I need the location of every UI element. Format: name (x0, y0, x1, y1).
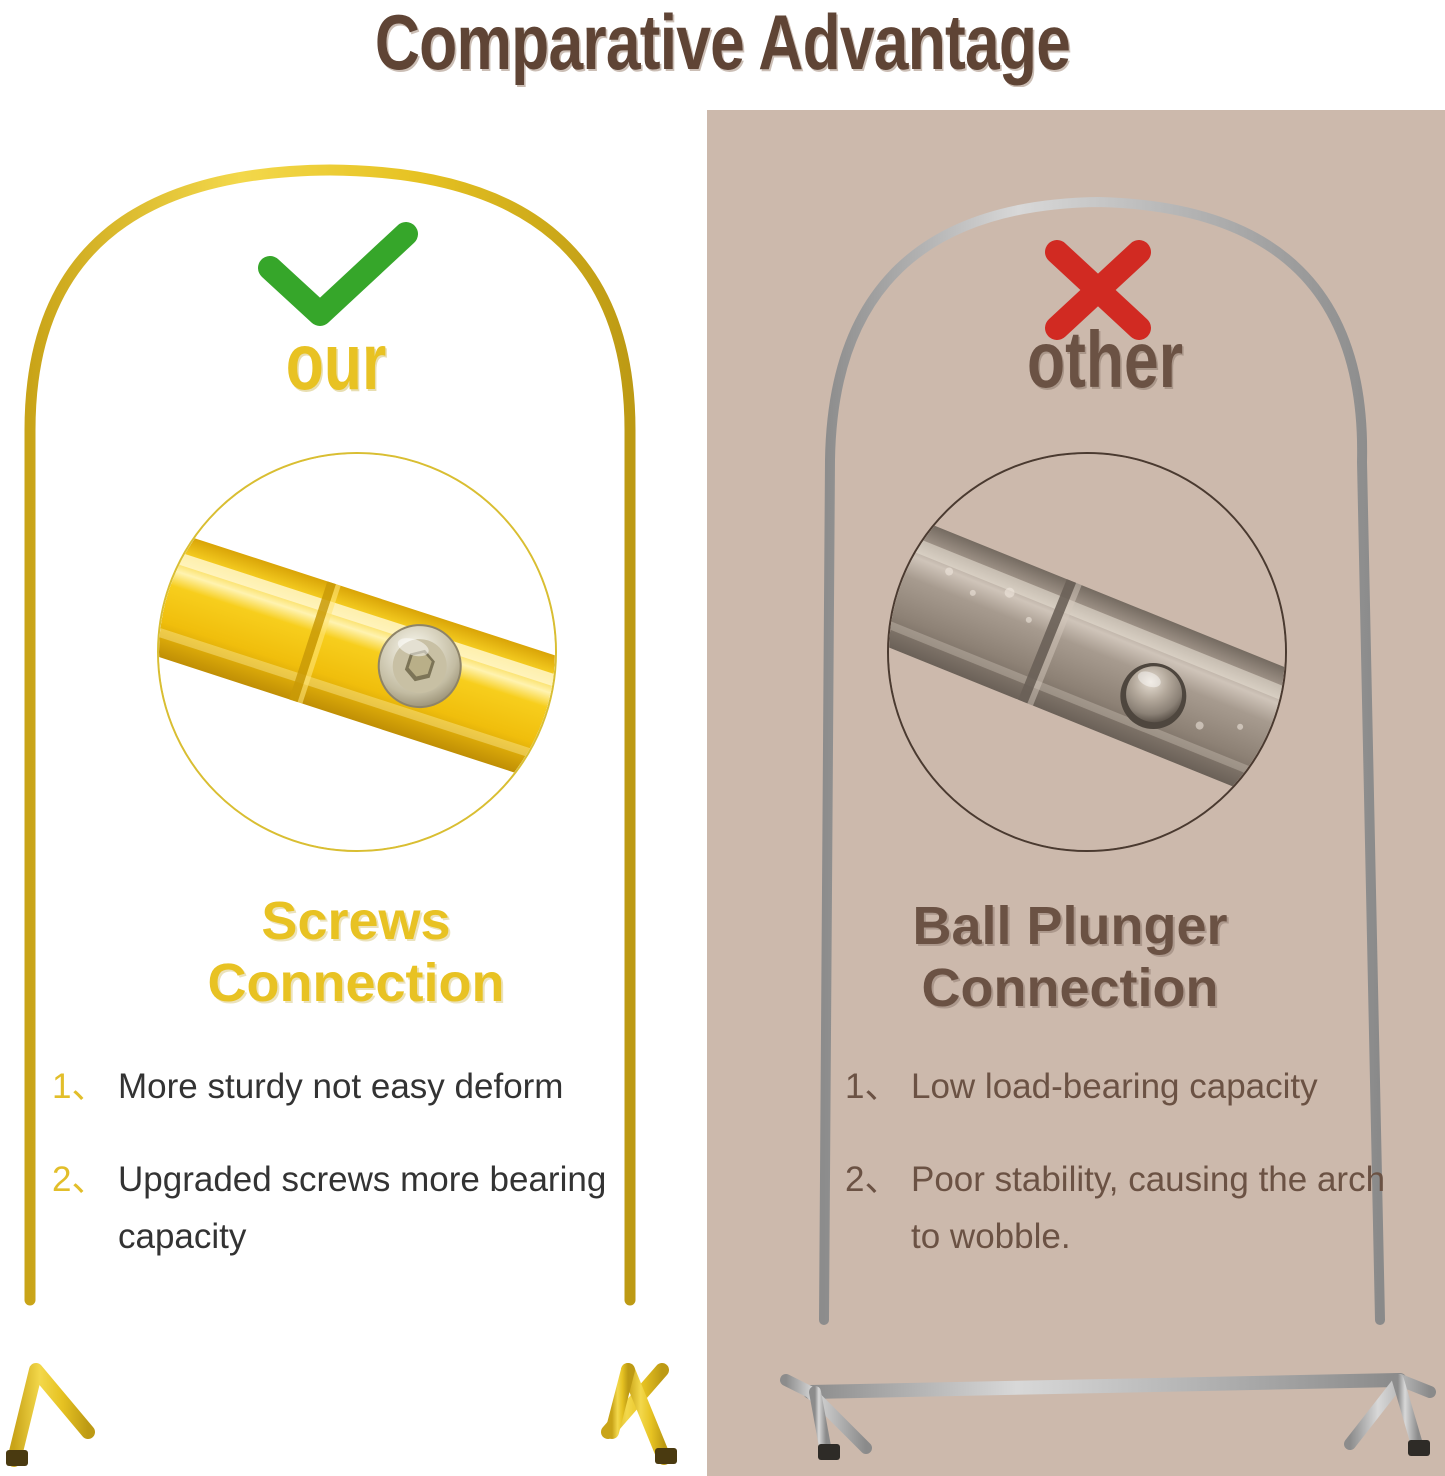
left-panel-heading: Screws Connection (20, 890, 692, 1014)
list-item-number: 1、 (845, 1058, 911, 1109)
right-panel-heading: Ball Plunger Connection (760, 895, 1380, 1019)
list-item: 1、 Low load-bearing capacity (845, 1058, 1405, 1115)
label-other: other (988, 318, 1222, 402)
right-panel-list: 1、 Low load-bearing capacity 2、 Poor sta… (845, 1058, 1405, 1301)
list-item-number: 2、 (845, 1151, 911, 1202)
list-item-number: 2、 (52, 1151, 118, 1202)
detail-photo-ball-plunger (887, 452, 1287, 852)
detail-photo-screws (157, 452, 557, 852)
check-icon (258, 222, 418, 332)
page-title: Comparative Advantage (145, 0, 1301, 88)
label-our: our (219, 320, 453, 404)
list-item: 2、 Poor stability, causing the arch to w… (845, 1151, 1405, 1265)
list-item: 2、 Upgraded screws more bearing capacity (52, 1151, 672, 1265)
list-item-text: More sturdy not easy deform (118, 1058, 672, 1115)
list-item-text: Upgraded screws more bearing capacity (118, 1151, 672, 1265)
list-item-text: Poor stability, causing the arch to wobb… (911, 1151, 1405, 1265)
list-item-number: 1、 (52, 1058, 118, 1109)
list-item-text: Low load-bearing capacity (911, 1058, 1405, 1115)
list-item: 1、 More sturdy not easy deform (52, 1058, 672, 1115)
comparison-infographic: Comparative Advantage (0, 0, 1445, 1476)
left-panel-list: 1、 More sturdy not easy deform 2、 Upgrad… (52, 1058, 672, 1301)
